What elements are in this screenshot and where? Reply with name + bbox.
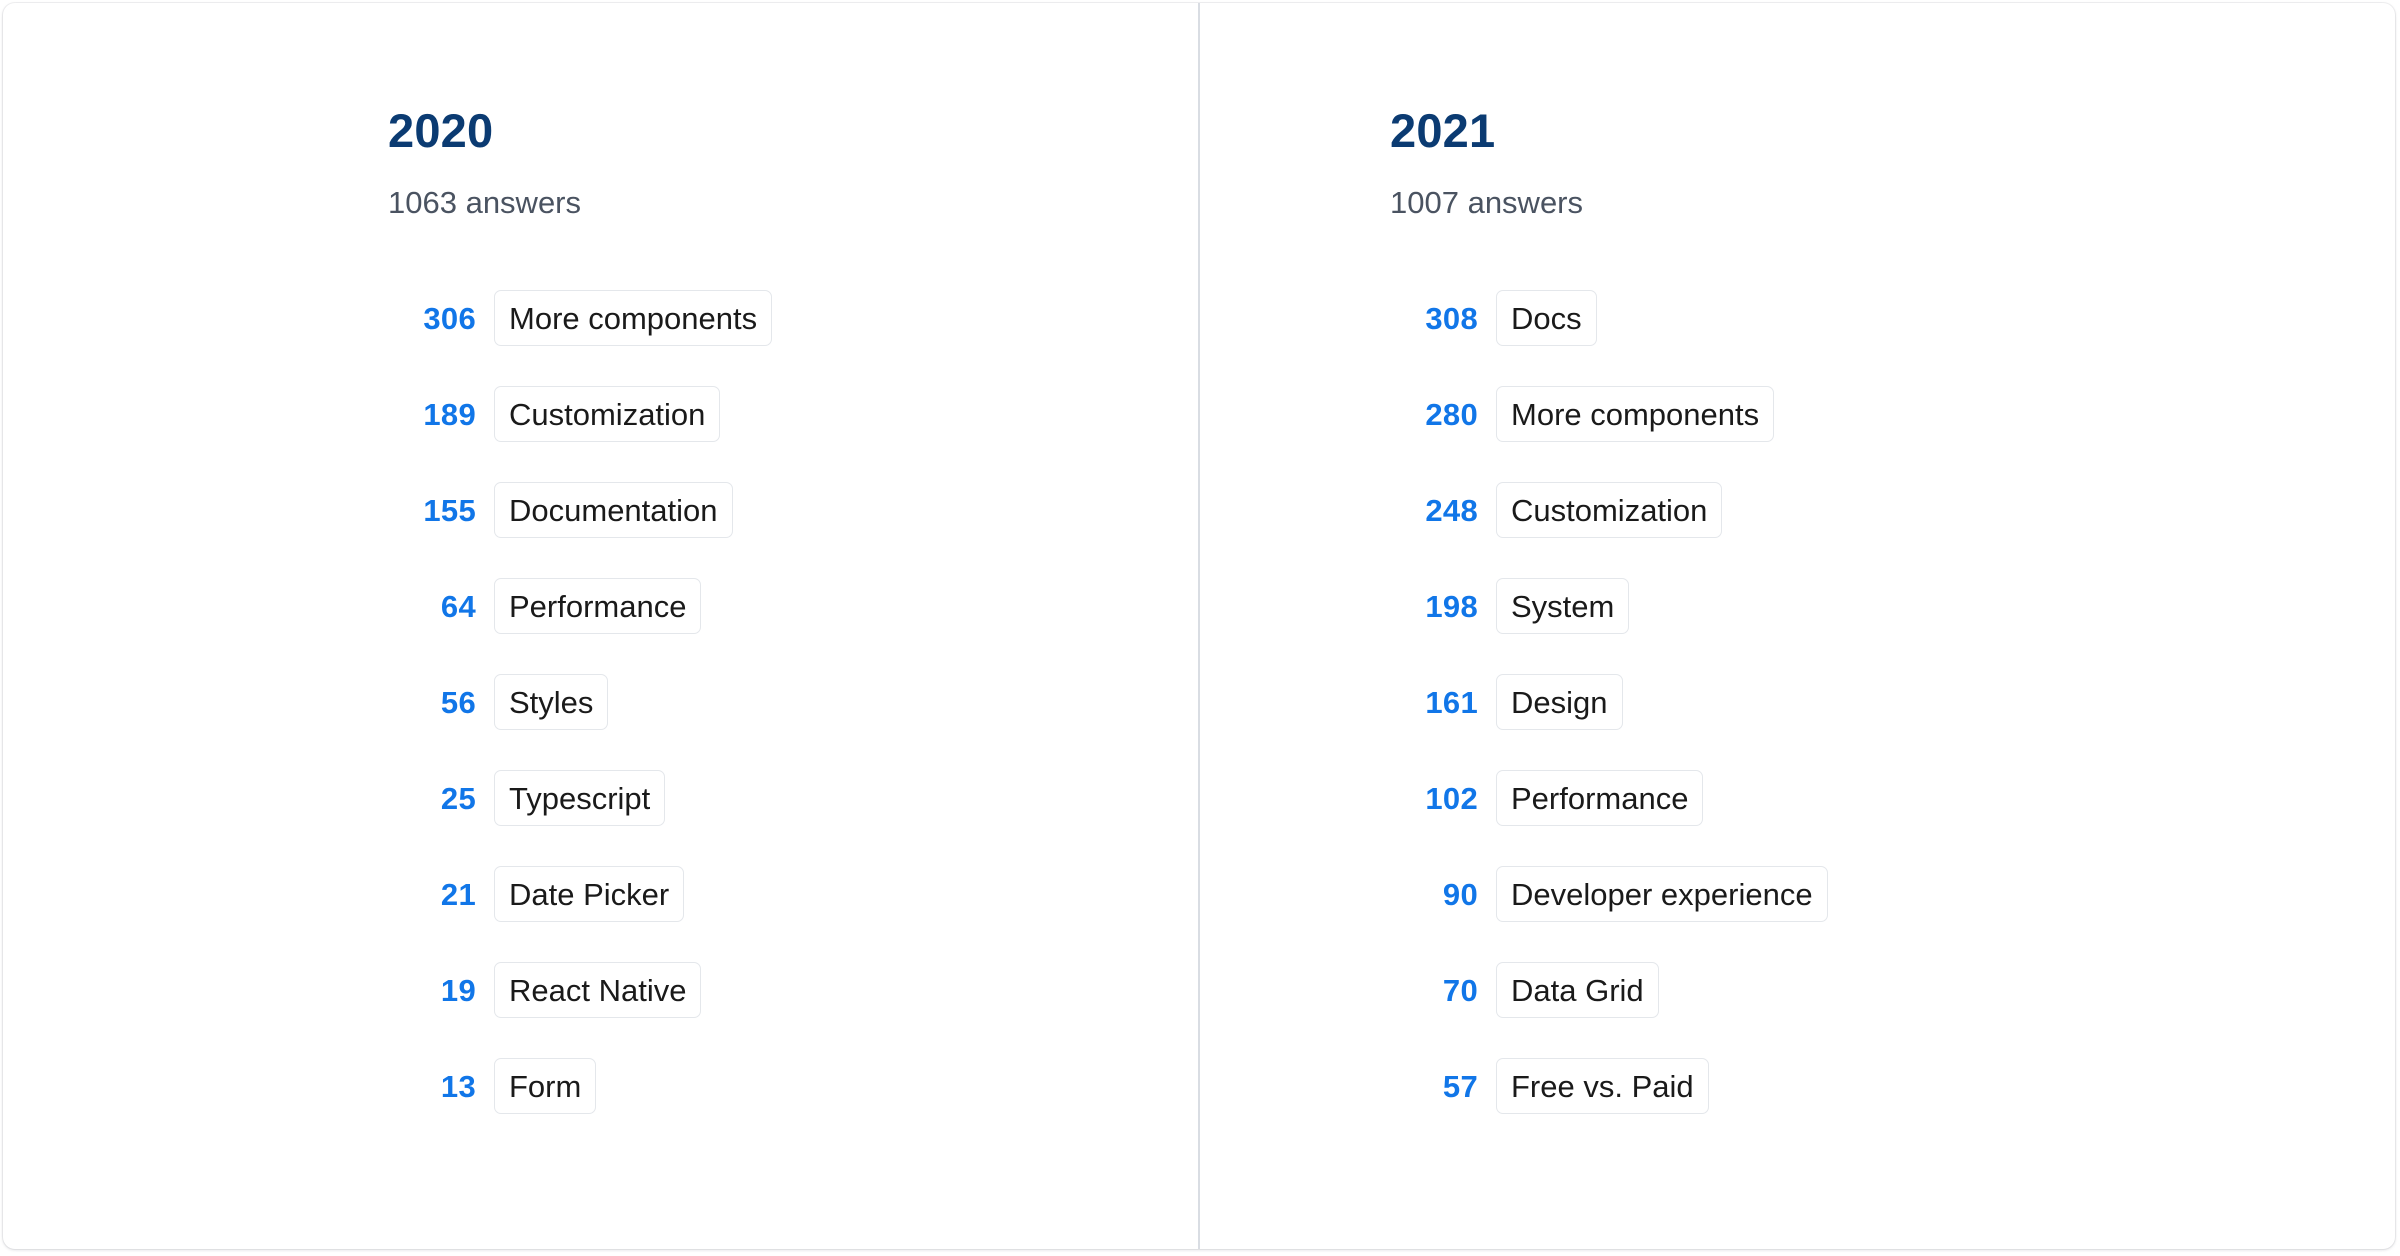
answer-list-2020: 306 More components 189 Customization 15… (388, 270, 1198, 1134)
answer-count: 70 (1390, 975, 1478, 1006)
panel-2020: 2020 1063 answers 306 More components 18… (3, 3, 1198, 1249)
answer-count: 21 (388, 879, 476, 910)
list-item[interactable]: 56 Styles (388, 654, 1198, 750)
answer-count: 25 (388, 783, 476, 814)
answer-count: 102 (1390, 783, 1478, 814)
list-item[interactable]: 161 Design (1390, 654, 2395, 750)
answer-tag[interactable]: Customization (494, 386, 720, 442)
answer-tag[interactable]: Design (1496, 674, 1623, 730)
answer-tag[interactable]: Free vs. Paid (1496, 1058, 1709, 1114)
list-item[interactable]: 13 Form (388, 1038, 1198, 1134)
list-item[interactable]: 198 System (1390, 558, 2395, 654)
list-item[interactable]: 102 Performance (1390, 750, 2395, 846)
answer-count: 64 (388, 591, 476, 622)
answer-tag[interactable]: Performance (1496, 770, 1703, 826)
answer-count: 155 (388, 495, 476, 526)
answer-count: 280 (1390, 399, 1478, 430)
survey-comparison-card: 2020 1063 answers 306 More components 18… (3, 3, 2395, 1249)
answers-count-2021: 1007 answers (1390, 187, 2395, 218)
answer-count: 19 (388, 975, 476, 1006)
answer-tag[interactable]: Developer experience (1496, 866, 1828, 922)
year-heading-2021: 2021 (1390, 107, 2395, 154)
list-item[interactable]: 155 Documentation (388, 462, 1198, 558)
list-item[interactable]: 306 More components (388, 270, 1198, 366)
year-heading-2020: 2020 (388, 107, 1198, 154)
list-item[interactable]: 64 Performance (388, 558, 1198, 654)
list-item[interactable]: 19 React Native (388, 942, 1198, 1038)
answer-count: 13 (388, 1071, 476, 1102)
answer-tag[interactable]: Performance (494, 578, 701, 634)
list-item[interactable]: 21 Date Picker (388, 846, 1198, 942)
list-item[interactable]: 280 More components (1390, 366, 2395, 462)
answer-tag[interactable]: Date Picker (494, 866, 684, 922)
answer-tag[interactable]: Documentation (494, 482, 733, 538)
answer-count: 198 (1390, 591, 1478, 622)
answer-tag[interactable]: Customization (1496, 482, 1722, 538)
list-item[interactable]: 90 Developer experience (1390, 846, 2395, 942)
list-item[interactable]: 70 Data Grid (1390, 942, 2395, 1038)
answer-tag[interactable]: Styles (494, 674, 608, 730)
answer-tag[interactable]: Docs (1496, 290, 1597, 346)
answer-tag[interactable]: React Native (494, 962, 701, 1018)
answer-tag[interactable]: Typescript (494, 770, 665, 826)
answer-count: 90 (1390, 879, 1478, 910)
list-item[interactable]: 57 Free vs. Paid (1390, 1038, 2395, 1134)
answer-count: 248 (1390, 495, 1478, 526)
list-item[interactable]: 25 Typescript (388, 750, 1198, 846)
list-item[interactable]: 189 Customization (388, 366, 1198, 462)
answer-tag[interactable]: More components (1496, 386, 1774, 442)
answer-tag[interactable]: System (1496, 578, 1629, 634)
answer-list-2021: 308 Docs 280 More components 248 Customi… (1390, 270, 2395, 1134)
answer-tag[interactable]: Form (494, 1058, 596, 1114)
answer-tag[interactable]: Data Grid (1496, 962, 1659, 1018)
panel-2021: 2021 1007 answers 308 Docs 280 More comp… (1198, 3, 2395, 1249)
answer-tag[interactable]: More components (494, 290, 772, 346)
answer-count: 189 (388, 399, 476, 430)
answer-count: 161 (1390, 687, 1478, 718)
answer-count: 306 (388, 303, 476, 334)
answer-count: 57 (1390, 1071, 1478, 1102)
list-item[interactable]: 308 Docs (1390, 270, 2395, 366)
answer-count: 56 (388, 687, 476, 718)
answers-count-2020: 1063 answers (388, 187, 1198, 218)
answer-count: 308 (1390, 303, 1478, 334)
list-item[interactable]: 248 Customization (1390, 462, 2395, 558)
